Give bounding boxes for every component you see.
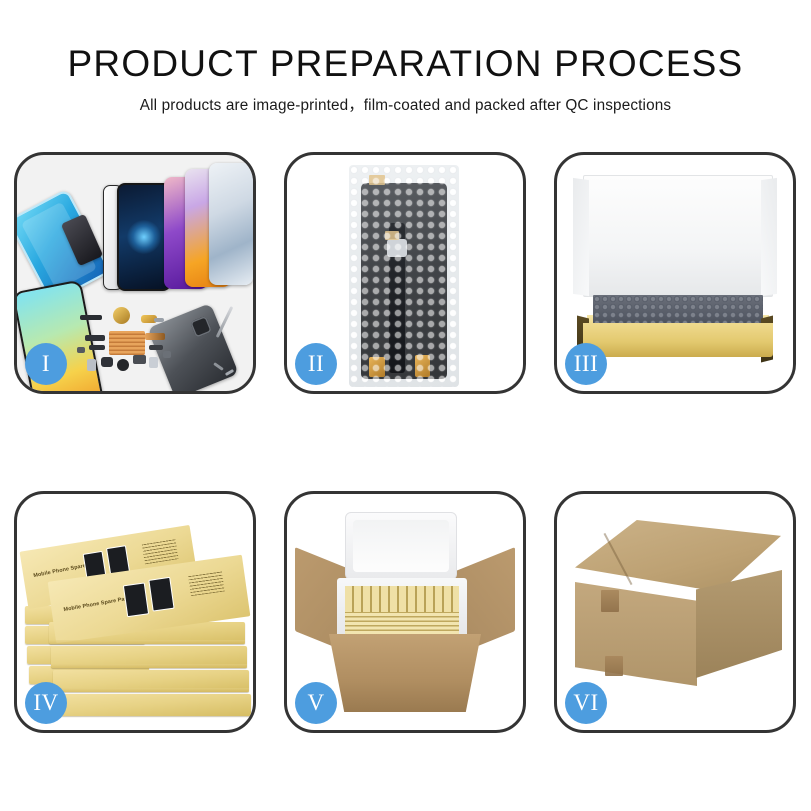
ribbon-cable [145,333,165,340]
gold-contact-right [415,355,430,377]
lid-flap-left [573,178,589,296]
step-3-badge: III [565,343,607,385]
gold-contact-left [369,357,385,377]
gold-box-rows-horizontal [345,612,459,634]
sim-tray [87,359,96,371]
carton-tape-lower [605,656,623,676]
process-step-3: III [554,152,796,394]
step-4-badge: IV [25,682,67,724]
packed-gold-boxes [345,586,459,634]
misc-part-b [163,351,171,358]
process-step-5: V [284,491,526,733]
page-header: PRODUCT PREPARATION PROCESS All products… [0,0,811,115]
process-step-4: Mobile Phone Spare Parts Mobile Phone Sp… [14,491,256,733]
process-steps-grid: I II III [14,152,797,733]
stack-seam-2 [51,664,247,668]
step-5-badge: V [295,682,337,724]
camera-module [101,357,113,367]
box-spec-lines-front [188,570,225,597]
bubble-wrapped-contents [593,295,763,325]
box-art-screen-f2 [148,577,174,612]
silver-gradient-phone [209,163,253,285]
vibration-motor [133,355,146,364]
step-6-badge: VI [565,682,607,724]
lid-flap-right [761,178,777,296]
white-box-lid [583,175,773,297]
process-step-6: VI [554,491,796,733]
gold-box-base [583,323,773,357]
foam-lid [345,512,457,580]
box-art-screen-f1 [123,582,149,617]
stacked-box-fr-4 [55,694,251,716]
metal-clip [154,318,164,322]
step-2-badge: II [295,343,337,385]
flex-connector-a [85,335,105,341]
carton-tape-upper [601,590,619,612]
battery-connector [149,357,158,368]
antenna-strip [80,315,102,320]
page-subtitle: All products are image-printed，film-coat… [0,93,811,115]
black-display-phone [117,183,171,291]
page-title: PRODUCT PREPARATION PROCESS [0,44,811,84]
bubble-wrap-pouch [349,165,459,387]
box-label-front: Mobile Phone Spare Parts [63,595,132,613]
process-step-1: I [14,152,256,394]
stack-seam-1 [49,640,245,644]
flex-cable-grid [109,331,145,355]
misc-part-a [77,347,85,353]
screen-connector [387,239,407,257]
tape-middle [385,231,399,240]
small-connector [149,345,163,350]
tape-top [369,175,385,185]
step-1-badge: I [25,343,67,385]
stack-seam-3 [53,688,249,692]
speaker-component [113,307,130,324]
carton-body [329,634,481,712]
flex-connector-b [89,345,105,350]
home-button [117,359,129,371]
box-spec-lines-back [142,537,179,564]
carton-front-face [575,582,697,686]
process-step-2: II [284,152,526,394]
